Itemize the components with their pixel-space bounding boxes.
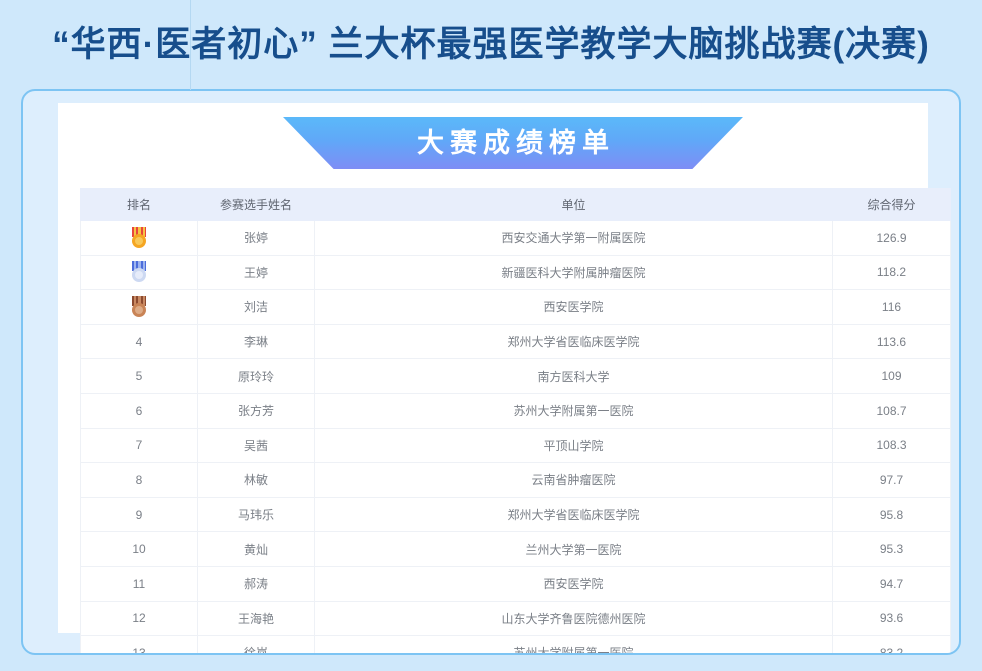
cell-score: 93.6	[833, 601, 951, 636]
cell-name: 原玲玲	[198, 359, 315, 394]
cell-score: 95.3	[833, 532, 951, 567]
cell-org: 平顶山学院	[315, 428, 833, 463]
table-row: 13徐岚苏州大学附属第一医院83.2	[81, 636, 951, 655]
table-row: 王婷新疆医科大学附属肿瘤医院118.2	[81, 255, 951, 290]
leaderboard-card: 大赛成绩榜单 排名 参赛选手姓名 单位 综合得分 张婷西安交通大学第一附属医院1…	[21, 89, 961, 655]
table-row: 9马玮乐郑州大学省医临床医学院95.8	[81, 497, 951, 532]
cell-name: 徐岚	[198, 636, 315, 655]
table-row: 6张方芳苏州大学附属第一医院108.7	[81, 393, 951, 428]
table-row: 7吴茜平顶山学院108.3	[81, 428, 951, 463]
cell-name: 林敏	[198, 463, 315, 498]
cell-name: 张方芳	[198, 393, 315, 428]
cell-rank: 11	[81, 566, 198, 601]
rank-number: 10	[132, 542, 145, 556]
rank-number: 11	[133, 577, 145, 591]
column-header-rank: 排名	[81, 189, 198, 221]
cell-rank: 13	[81, 636, 198, 655]
cell-name: 吴茜	[198, 428, 315, 463]
cell-org: 苏州大学附属第一医院	[315, 636, 833, 655]
cell-rank	[81, 255, 198, 290]
banner-label: 大赛成绩榜单	[411, 130, 615, 157]
cell-name: 王婷	[198, 255, 315, 290]
cell-name: 郝涛	[198, 566, 315, 601]
table-row: 5原玲玲南方医科大学109	[81, 359, 951, 394]
cell-org: 兰州大学第一医院	[315, 532, 833, 567]
table-row: 8林敏云南省肿瘤医院97.7	[81, 463, 951, 498]
cell-score: 108.3	[833, 428, 951, 463]
cell-rank: 9	[81, 497, 198, 532]
cell-org: 西安交通大学第一附属医院	[315, 221, 833, 256]
leaderboard-page: { "header": { "title": "“华西·医者初心” 兰大杯最强医…	[0, 0, 982, 671]
rank-number: 4	[136, 335, 143, 349]
column-header-name: 参赛选手姓名	[198, 189, 315, 221]
results-table: 排名 参赛选手姓名 单位 综合得分 张婷西安交通大学第一附属医院126.9王婷新…	[80, 188, 951, 655]
cell-org: 西安医学院	[315, 566, 833, 601]
cell-org: 云南省肿瘤医院	[315, 463, 833, 498]
cell-score: 116	[833, 290, 951, 325]
cell-rank: 4	[81, 324, 198, 359]
column-header-score: 综合得分	[833, 189, 951, 221]
cell-score: 83.2	[833, 636, 951, 655]
cell-rank	[81, 221, 198, 256]
rank-number: 13	[132, 646, 145, 655]
cell-score: 95.8	[833, 497, 951, 532]
cell-score: 108.7	[833, 393, 951, 428]
cell-rank: 8	[81, 463, 198, 498]
banner-area: 大赛成绩榜单	[58, 103, 928, 181]
cell-rank: 6	[81, 393, 198, 428]
table-header-row: 排名 参赛选手姓名 单位 综合得分	[81, 189, 951, 221]
cell-rank: 10	[81, 532, 198, 567]
column-header-org: 单位	[315, 189, 833, 221]
results-banner: 大赛成绩榜单	[283, 117, 743, 169]
cell-org: 西安医学院	[315, 290, 833, 325]
cell-rank: 5	[81, 359, 198, 394]
table-head: 排名 参赛选手姓名 单位 综合得分	[81, 189, 951, 221]
cell-name: 马玮乐	[198, 497, 315, 532]
leaderboard-panel: 大赛成绩榜单 排名 参赛选手姓名 单位 综合得分 张婷西安交通大学第一附属医院1…	[58, 103, 928, 633]
cell-score: 109	[833, 359, 951, 394]
cell-score: 118.2	[833, 255, 951, 290]
page-title: “华西·医者初心” 兰大杯最强医学教学大脑挑战赛(决赛)	[52, 27, 930, 62]
cell-org: 郑州大学省医临床医学院	[315, 324, 833, 359]
cell-org: 苏州大学附属第一医院	[315, 393, 833, 428]
table-row: 11郝涛西安医学院94.7	[81, 566, 951, 601]
results-table-wrap: 排名 参赛选手姓名 单位 综合得分 张婷西安交通大学第一附属医院126.9王婷新…	[80, 188, 906, 655]
cell-org: 郑州大学省医临床医学院	[315, 497, 833, 532]
cell-score: 97.7	[833, 463, 951, 498]
cell-name: 王海艳	[198, 601, 315, 636]
table-row: 10黄灿兰州大学第一医院95.3	[81, 532, 951, 567]
cell-name: 李琳	[198, 324, 315, 359]
rank-number: 5	[136, 369, 143, 383]
silver-medal-icon	[130, 261, 148, 283]
cell-rank: 12	[81, 601, 198, 636]
cell-name: 张婷	[198, 221, 315, 256]
page-header: “华西·医者初心” 兰大杯最强医学教学大脑挑战赛(决赛)	[0, 0, 982, 88]
cell-org: 山东大学齐鲁医院德州医院	[315, 601, 833, 636]
rank-number: 12	[132, 611, 145, 625]
gold-medal-icon	[130, 227, 148, 249]
table-row: 张婷西安交通大学第一附属医院126.9	[81, 221, 951, 256]
table-row: 刘洁西安医学院116	[81, 290, 951, 325]
bronze-medal-icon	[130, 296, 148, 318]
rank-number: 9	[136, 508, 143, 522]
table-row: 12王海艳山东大学齐鲁医院德州医院93.6	[81, 601, 951, 636]
cell-score: 113.6	[833, 324, 951, 359]
cell-score: 126.9	[833, 221, 951, 256]
cell-rank	[81, 290, 198, 325]
rank-number: 6	[136, 404, 143, 418]
table-row: 4李琳郑州大学省医临床医学院113.6	[81, 324, 951, 359]
cell-score: 94.7	[833, 566, 951, 601]
rank-number: 8	[136, 473, 143, 487]
rank-number: 7	[136, 438, 143, 452]
cell-org: 南方医科大学	[315, 359, 833, 394]
cell-name: 黄灿	[198, 532, 315, 567]
table-body: 张婷西安交通大学第一附属医院126.9王婷新疆医科大学附属肿瘤医院118.2刘洁…	[81, 221, 951, 656]
cell-org: 新疆医科大学附属肿瘤医院	[315, 255, 833, 290]
cell-rank: 7	[81, 428, 198, 463]
cell-name: 刘洁	[198, 290, 315, 325]
